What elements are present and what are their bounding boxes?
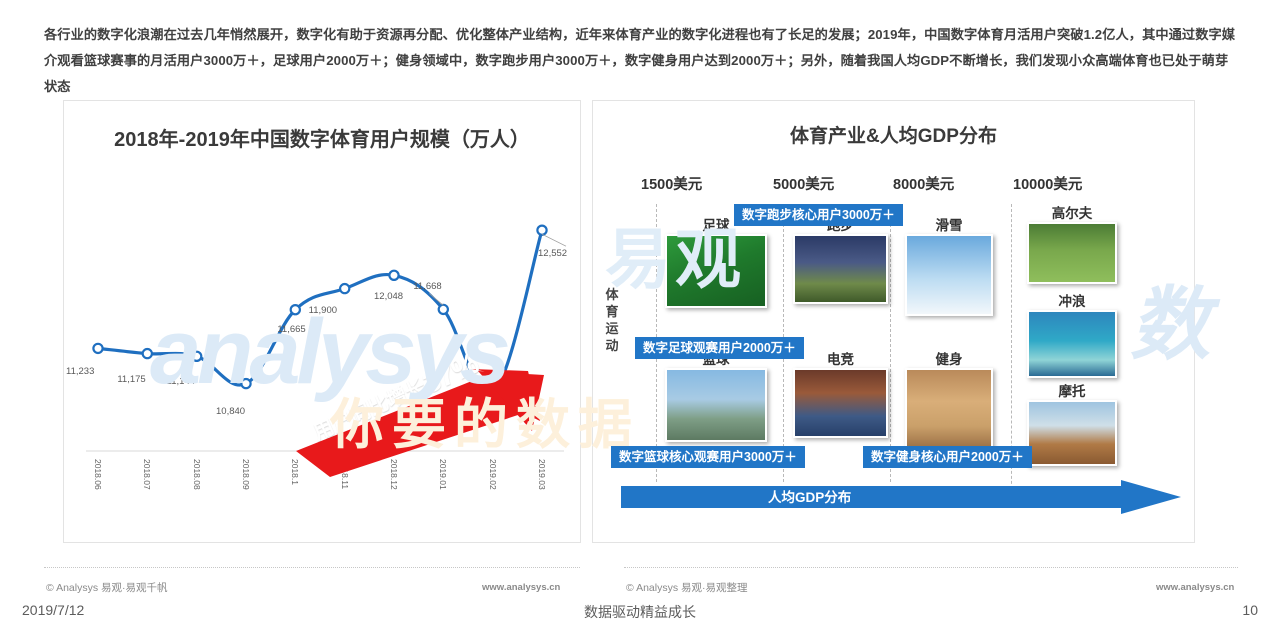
x-axis-tick: 2018.08 — [192, 459, 202, 490]
sport-thumbnail-cell[interactable]: 摩托 — [1027, 383, 1117, 466]
slide-page-number: 10 — [1242, 602, 1258, 618]
right-panel-title: 体育产业&人均GDP分布 — [593, 121, 1194, 148]
data-point-label: 12,048 — [374, 291, 403, 302]
callout-chip: 数字足球观赛用户2000万＋ — [635, 337, 804, 359]
gdp-tier-labels: 1500美元5000美元8000美元10000美元 — [593, 173, 1196, 203]
x-axis-tick: 2018.07 — [142, 459, 152, 490]
data-point-label: 10,840 — [216, 406, 245, 417]
intro-paragraph: 各行业的数字化浪潮在过去几年悄然展开，数字化有助于资源再分配、优化整体产业结构，… — [44, 22, 1240, 100]
callout-chip: 数字篮球核心观赛用户3000万＋ — [611, 446, 805, 468]
vertical-axis-char: 育 — [604, 303, 620, 320]
data-point — [389, 271, 398, 280]
data-point-label: 11,175 — [117, 374, 145, 385]
sport-photo — [665, 368, 767, 442]
data-point-label: 11,233 — [66, 366, 94, 377]
sport-photo — [905, 368, 993, 450]
x-axis-tick: 2018.09 — [241, 459, 251, 490]
data-point — [537, 226, 546, 235]
sport-thumbnail-cell[interactable]: 跑步 — [793, 217, 888, 304]
label-leader-line — [542, 234, 566, 246]
sport-photo — [1027, 310, 1117, 378]
label-leader-lines — [429, 234, 566, 305]
sport-thumbnail-cell[interactable]: 健身 — [905, 351, 993, 450]
callout-chip: 数字跑步核心用户3000万＋ — [734, 204, 903, 226]
sport-photo — [793, 368, 888, 438]
right-footer-copyright: © Analysys 易观·易观整理 — [626, 580, 748, 595]
gdp-arrow-label: 人均GDP分布 — [768, 486, 851, 506]
sport-photo — [905, 234, 993, 316]
data-point-label: 11,668 — [413, 281, 441, 292]
sport-thumbnail-cell[interactable]: 滑雪 — [905, 217, 993, 316]
data-point-label: 12,552 — [538, 248, 567, 259]
data-point — [291, 305, 300, 314]
sport-thumbnail-cell[interactable]: 冲浪 — [1027, 293, 1117, 378]
data-point-label: 11,144 — [167, 376, 195, 387]
vertical-axis-char: 动 — [604, 337, 620, 354]
sport-thumbnail-cell[interactable]: 足球 — [665, 217, 767, 308]
sport-label: 健身 — [905, 351, 993, 368]
sport-thumbnail-cell[interactable]: 篮球 — [665, 351, 767, 442]
data-point — [93, 344, 102, 353]
data-point — [241, 379, 250, 388]
sport-label: 高尔夫 — [1027, 205, 1117, 222]
left-footer-copyright: © Analysys 易观·易观千帆 — [46, 580, 168, 595]
callout-chip: 数字健身核心用户2000万＋ — [863, 446, 1032, 468]
vertical-axis-label: 体育运动 — [604, 286, 620, 354]
x-axis-tick: 2018.06 — [93, 459, 103, 490]
sport-label: 电竞 — [793, 351, 888, 368]
vertical-axis-char: 运 — [604, 320, 620, 337]
left-chart-panel: 2018年-2019年中国数字体育用户规模（万人） 11,23311,17511… — [63, 100, 581, 543]
data-point — [340, 284, 349, 293]
slide-tagline: 数据驱动精益成长 — [0, 602, 1280, 622]
gdp-tier-label: 10000美元 — [1013, 173, 1082, 194]
sport-photo — [793, 234, 888, 304]
sport-photo — [1027, 400, 1117, 466]
sport-label: 摩托 — [1027, 383, 1117, 400]
data-point-label: 11,900 — [309, 305, 337, 316]
gdp-tier-label: 1500美元 — [641, 173, 702, 194]
sport-photo — [1027, 222, 1117, 284]
gdp-distribution-arrow — [621, 480, 1181, 514]
tier-divider — [890, 204, 891, 482]
sport-thumbnail-cell[interactable]: 电竞 — [793, 351, 888, 438]
left-panel-title: 2018年-2019年中国数字体育用户规模（万人） — [64, 123, 580, 152]
line-chart: 11,23311,17511,14410,84011,66511,90012,0… — [64, 161, 582, 544]
vertical-axis-char: 体 — [604, 286, 620, 303]
right-diagram-panel: 体育产业&人均GDP分布 体育运动 1500美元5000美元8000美元1000… — [592, 100, 1195, 543]
gdp-tier-label: 8000美元 — [893, 173, 954, 194]
sport-label: 冲浪 — [1027, 293, 1117, 310]
left-footer-rule — [44, 567, 580, 568]
data-point — [143, 349, 152, 358]
data-point-label: 11,665 — [277, 324, 305, 335]
data-point — [192, 352, 201, 361]
left-footer-url[interactable]: www.analysys.cn — [482, 582, 560, 593]
data-point — [439, 305, 448, 314]
right-footer-url[interactable]: www.analysys.cn — [1156, 582, 1234, 593]
right-footer-rule — [624, 567, 1238, 568]
sport-label: 滑雪 — [905, 217, 993, 234]
sport-thumbnail-cell[interactable]: 高尔夫 — [1027, 205, 1117, 284]
sport-photo — [665, 234, 767, 308]
gdp-tier-label: 5000美元 — [773, 173, 834, 194]
